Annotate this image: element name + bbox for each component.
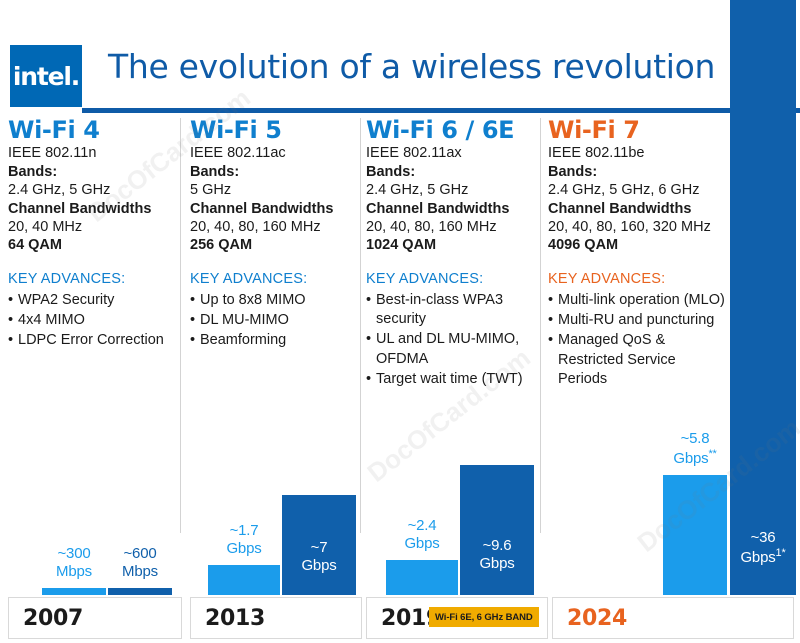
bar-footnote-2024-dark: 1*	[776, 547, 786, 559]
bar-label-2024-light: ~5.8 Gbps**	[655, 430, 735, 468]
year-label-2007: 2007	[23, 606, 83, 631]
bar-2007-dark	[108, 588, 172, 595]
year-box-2013[interactable]: 2013	[190, 597, 362, 639]
intel-logo-text: intel.	[13, 64, 79, 89]
page-title: The evolution of a wireless revolution	[108, 47, 715, 86]
bar-2019-dark	[460, 465, 534, 595]
bar-unit-2019-dark: Gbps	[479, 555, 514, 572]
bar-2013-light	[208, 565, 280, 595]
bar-footnote-2024-light: **	[708, 448, 716, 460]
year-label-2013: 2013	[205, 606, 265, 631]
bar-value-2007-dark: ~600	[124, 545, 157, 562]
bar-label-2019-dark: ~9.6 Gbps	[460, 537, 534, 573]
bar-unit-2024-dark: Gbps	[740, 549, 775, 566]
bar-value-2024-light: ~5.8	[681, 430, 710, 447]
year-box-2024[interactable]: 2024	[552, 597, 794, 639]
bar-label-2007-light: ~300 Mbps	[36, 545, 112, 581]
bar-2007-light	[42, 588, 106, 595]
throughput-bar-chart: ~300 Mbps ~600 Mbps ~1.7 Gbps ~7 Gbps ~2…	[0, 118, 800, 595]
bar-label-2013-dark: ~7 Gbps	[282, 539, 356, 575]
bar-2024-light	[663, 475, 727, 595]
infographic-canvas: intel. The evolution of a wireless revol…	[0, 0, 800, 643]
year-label-2024: 2024	[567, 606, 627, 631]
bar-unit-2007-dark: Mbps	[122, 563, 158, 580]
bar-value-2019-dark: ~9.6	[483, 537, 512, 554]
bar-label-2019-light: ~2.4 Gbps	[382, 517, 462, 553]
bar-unit-2013-light: Gbps	[226, 540, 261, 557]
bar-value-2013-dark: ~7	[311, 539, 328, 556]
bar-2019-light	[386, 560, 458, 595]
header-divider-rule	[82, 108, 800, 113]
header: intel. The evolution of a wireless revol…	[0, 0, 800, 113]
bar-unit-2024-light: Gbps	[673, 450, 708, 467]
bar-value-2013-light: ~1.7	[230, 522, 259, 539]
bar-label-2024-dark: ~36 Gbps1*	[730, 529, 796, 567]
bar-label-2013-light: ~1.7 Gbps	[204, 522, 284, 558]
bar-value-2024-dark: ~36	[751, 529, 776, 546]
bar-unit-2013-dark: Gbps	[301, 557, 336, 574]
year-box-2019[interactable]: 2019 Wi-Fi 6E, 6 GHz BAND	[366, 597, 548, 639]
bar-label-2007-dark: ~600 Mbps	[102, 545, 178, 581]
bar-unit-2007-light: Mbps	[56, 563, 92, 580]
status-badge-wifi6e: Wi-Fi 6E, 6 GHz BAND	[429, 607, 539, 627]
timeline-year-row: 2007 2013 2019 Wi-Fi 6E, 6 GHz BAND 2024	[0, 597, 800, 643]
bar-value-2019-light: ~2.4	[408, 517, 437, 534]
intel-logo: intel.	[10, 45, 82, 107]
bar-value-2007-light: ~300	[58, 545, 91, 562]
bar-unit-2019-light: Gbps	[404, 535, 439, 552]
year-box-2007[interactable]: 2007	[8, 597, 182, 639]
